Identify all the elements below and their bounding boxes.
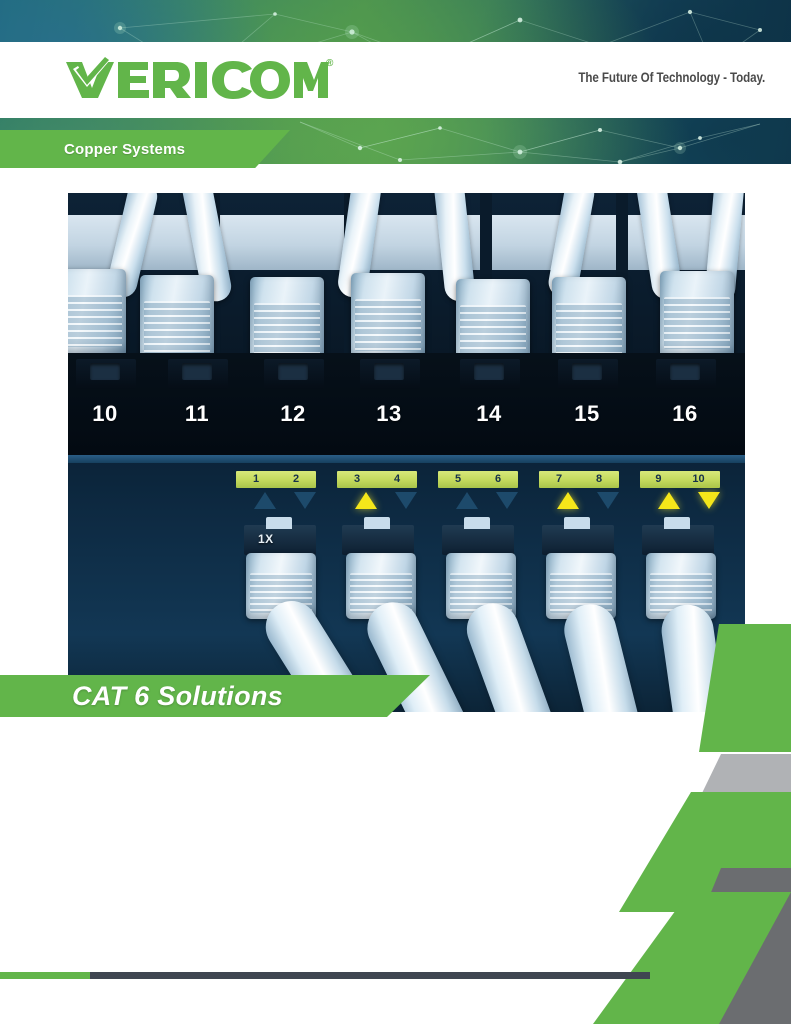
panel-jack [656,359,716,389]
chevron-green-lower [593,892,791,1024]
switch-led-indicator [254,492,276,509]
rj45-connector [250,277,324,363]
chevron-gray-light [687,754,791,824]
switch-port [342,525,414,555]
panel-port-number: 15 [564,401,610,427]
footer-rule-dark [90,972,650,979]
panel-jack [558,359,618,389]
panel-jack [264,359,324,389]
logo-strip: ® The Future Of Technology - Today. [0,42,791,118]
rj45-connector [351,273,425,359]
rj45-connector [660,271,734,357]
switch-led-label: 8 [596,474,602,485]
panel-jack [460,359,520,389]
category-tab-label: Copper Systems [64,141,185,158]
patch-cable [658,601,735,712]
hero-photo-patch-panel: 10 11 12 13 14 15 16 12345678910 [68,193,745,712]
rj45-connector [68,269,126,355]
switch-led-indicator [597,492,619,509]
panel-jack [76,359,136,389]
footer-rule-green [0,972,90,979]
chevron-green-mid [619,792,791,912]
switch-led-label: 4 [394,474,400,485]
switch-port [642,525,714,555]
brochure-cover-page: ® The Future Of Technology - Today. C [0,0,791,1024]
panel-jack [168,359,228,389]
rj45-connector [552,277,626,363]
switch-led-label: 10 [692,474,704,485]
panel-port-number: 16 [662,401,708,427]
vericom-wordmark-icon [64,56,264,100]
switch-led-label: 3 [354,474,360,485]
switch-led-strip: 12345678910 [236,471,745,511]
registered-trademark-mark: ® [326,58,333,69]
panel-port-number: 11 [174,401,220,427]
switch-led-block: 78 [539,471,619,488]
panel-jack [360,359,420,389]
switch-led-label: 6 [495,474,501,485]
switch-led-label: 1 [253,474,259,485]
category-tab-copper-systems[interactable]: Copper Systems [0,130,290,168]
rj45-connector [140,275,214,361]
panel-port-number: 12 [270,401,316,427]
panel-port-number: 14 [466,401,512,427]
switch-led-label: 9 [655,474,661,485]
hero-title-label: CAT 6 Solutions [72,681,283,712]
network-switch-lower: 12345678910 [68,455,745,712]
switch-led-label: 2 [293,474,299,485]
switch-led-indicator [658,492,680,509]
switch-top-edge [68,455,745,463]
switch-rack-label: 1X [258,532,274,546]
footer-rule [0,972,791,979]
patch-cable [559,599,653,712]
switch-led-label: 7 [556,474,562,485]
panel-port-number: 13 [366,401,412,427]
patch-panel-upper: 10 11 12 13 14 15 16 [68,193,745,455]
switch-led-block: 910 [640,471,720,488]
switch-port [244,525,316,555]
switch-led-indicator [496,492,518,509]
switch-port [542,525,614,555]
switch-led-block: 12 [236,471,316,488]
switch-led-indicator [355,492,377,509]
vericom-wordmark-tail-icon [250,56,328,100]
switch-led-indicator [294,492,316,509]
switch-led-block: 34 [337,471,417,488]
switch-led-indicator [557,492,579,509]
switch-led-label: 5 [455,474,461,485]
vericom-logo[interactable]: ® [64,50,333,106]
panel-port-number: 10 [82,401,128,427]
brand-tagline: The Future Of Technology - Today. [578,70,765,85]
hero-title-banner[interactable]: CAT 6 Solutions [0,675,430,717]
chevron-gray-dark [657,868,791,1024]
switch-led-indicator [395,492,417,509]
switch-port [442,525,514,555]
switch-led-indicator [698,492,720,509]
switch-led-indicator [456,492,478,509]
switch-led-block: 56 [438,471,518,488]
